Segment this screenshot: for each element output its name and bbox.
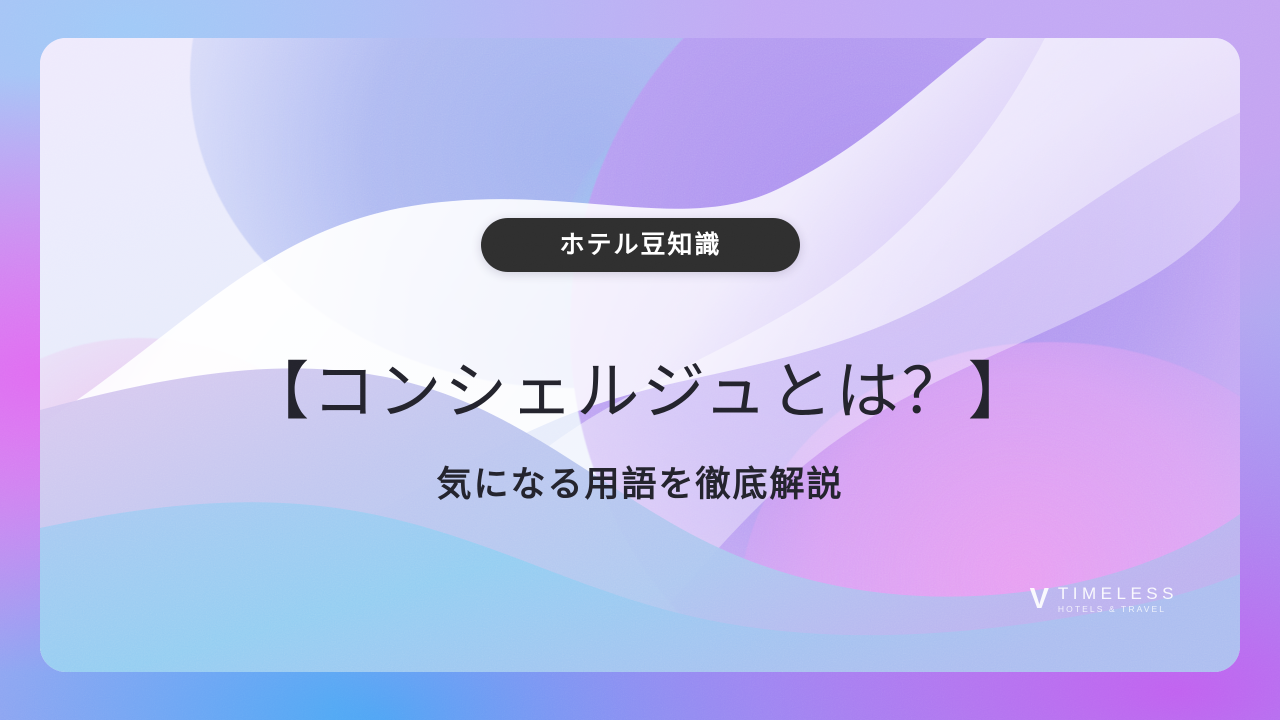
banner-canvas: V TIMELESS HOTELS & TRAVEL ホテル豆知識 【コンシェル… — [0, 0, 1280, 720]
category-badge-label: ホテル豆知識 — [559, 233, 721, 258]
banner-content: ホテル豆知識 【コンシェルジュとは？】 気になる用語を徹底解説 — [0, 0, 1280, 720]
banner-title: 【コンシェルジュとは？】 — [0, 355, 1280, 431]
category-badge: ホテル豆知識 — [481, 218, 800, 272]
banner-subtitle: 気になる用語を徹底解説 — [0, 464, 1280, 506]
